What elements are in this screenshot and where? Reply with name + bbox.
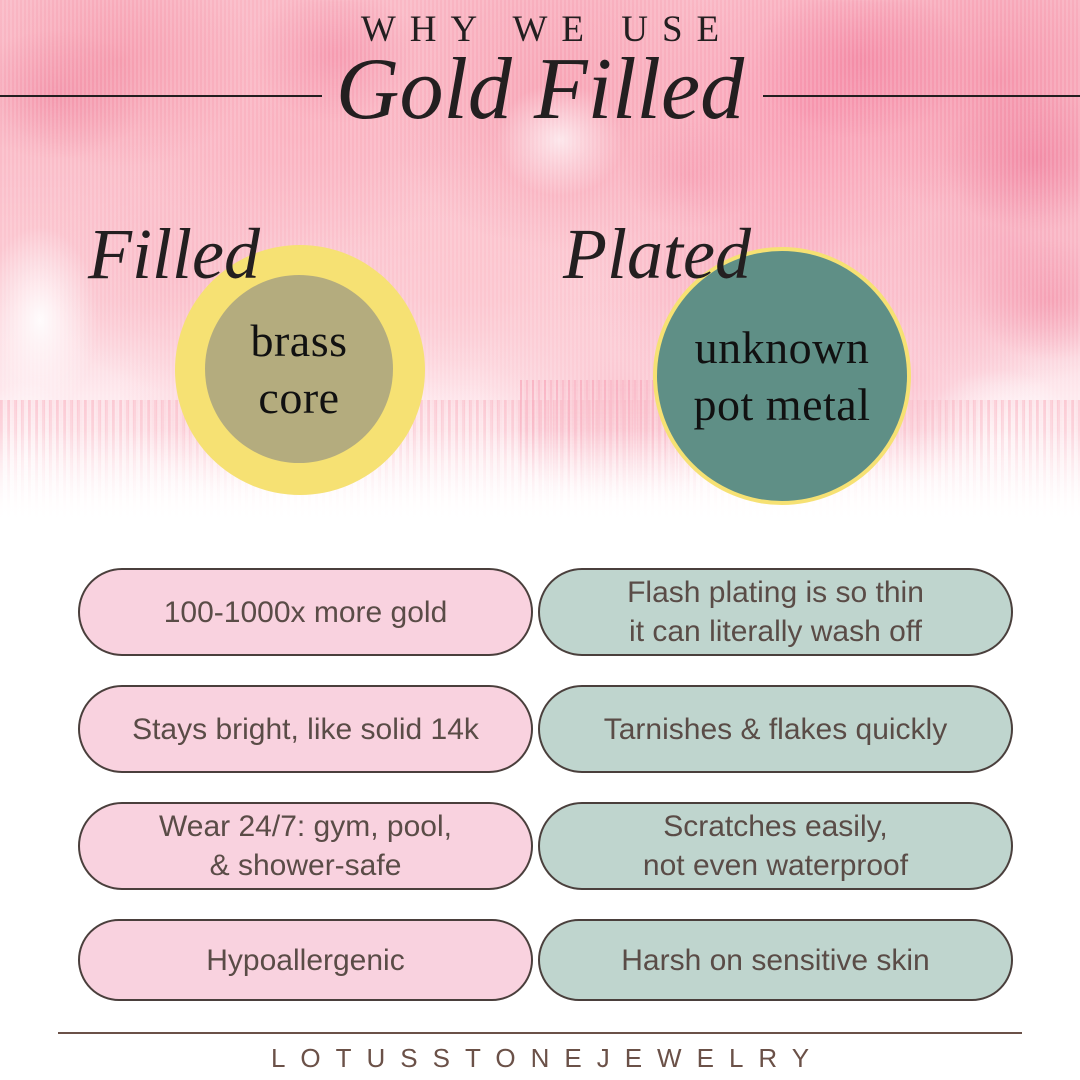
footer-rule <box>58 1032 1022 1034</box>
pill-filled-row-3: Hypoallergenic <box>78 919 533 1001</box>
pill-filled-row-1: Stays bright, like solid 14k <box>78 685 533 773</box>
pill-plated-row-3: Harsh on sensitive skin <box>538 919 1013 1001</box>
column-title-filled: Filled <box>88 218 260 290</box>
infographic-canvas: WHY WE USE Gold Filled brasscore Filled … <box>0 0 1080 1080</box>
pill-plated-row-2: Scratches easily,not even waterproof <box>538 802 1013 890</box>
brand-wordmark: LOTUSSTONEJEWELRY <box>0 1043 1080 1074</box>
pill-filled-row-2: Wear 24/7: gym, pool,& shower-safe <box>78 802 533 890</box>
pill-plated-row-1: Tarnishes & flakes quickly <box>538 685 1013 773</box>
comparison-grid: 100-1000x more gold Flash plating is so … <box>0 0 1080 1080</box>
pill-plated-row-0: Flash plating is so thinit can literally… <box>538 568 1013 656</box>
pill-filled-row-0: 100-1000x more gold <box>78 568 533 656</box>
column-title-plated: Plated <box>563 218 751 290</box>
